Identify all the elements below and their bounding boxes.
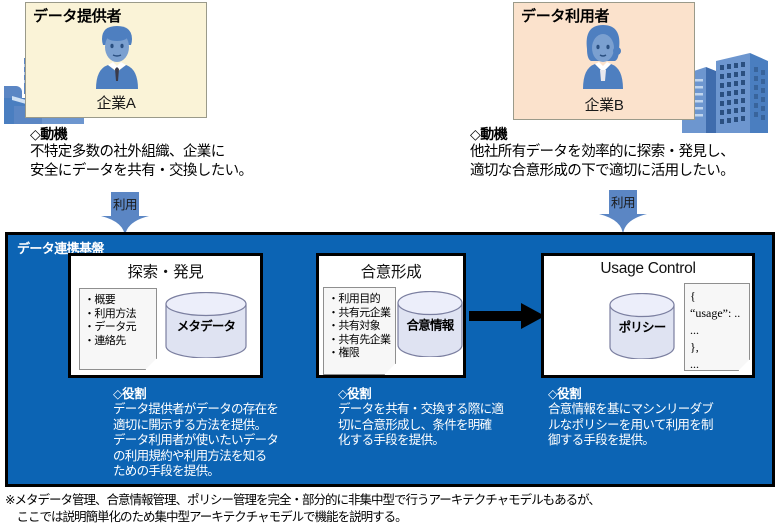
role-usage-control-text: 合意情報を基にマシンリーダブ ルなポリシーを用いて利用を制 御する手段を提供。 <box>548 402 778 449</box>
role-agreement-heading: ◇役割 <box>338 387 543 402</box>
policy-json-note: { “usage”: .. ... }, ... <box>684 283 750 371</box>
consumer-usage-arrow: 利用 <box>595 190 651 236</box>
businesswoman-avatar <box>572 23 634 89</box>
consumer-corp-label: 企業B <box>514 94 694 115</box>
panel-discovery[interactable]: 探索・発見 ・概要 ・利用方法 ・データ元 ・連絡先 メタデータ <box>68 253 263 378</box>
agreement-database-label: 合意情報 <box>395 315 465 334</box>
metadata-database-label: メタデータ <box>163 316 249 335</box>
panel-agreement[interactable]: 合意形成 ・利用目的 ・共有元企業 ・共有対象 ・共有先企業 ・権限 合意情報 <box>316 253 466 378</box>
role-discovery-text: データ提供者がデータの存在を 適切に開示する方法を提供。 データ利用者が使いたい… <box>113 402 338 480</box>
role-discovery: ◇役割 データ提供者がデータの存在を 適切に開示する方法を提供。 データ利用者が… <box>113 387 338 480</box>
provider-motivation-text: 不特定多数の社外組織、企業に 安全にデータを共有・交換したい。 <box>30 143 252 181</box>
businessman-avatar <box>86 23 148 89</box>
panel-discovery-title: 探索・発見 <box>71 260 260 282</box>
provider-motivation-heading: ◇動機 <box>30 126 252 143</box>
panel-usage-control[interactable]: Usage Control ポリシー { “usage”: .. ... }, … <box>541 253 755 378</box>
panel-agreement-title: 合意形成 <box>319 260 463 282</box>
data-consumer-card: データ利用者 企業B <box>513 2 695 120</box>
diagram-canvas: データ提供者 企業A ◇動機 不特定多数の社外組織、企業に 安全にデータを共有・… <box>0 0 780 530</box>
role-agreement-text: データを共有・交換する際に適 切に合意形成し、条件を明確 化する手段を提供。 <box>338 402 543 449</box>
consumer-arrow-label: 利用 <box>595 192 651 211</box>
policy-database-icon: ポリシー <box>607 293 677 359</box>
consumer-motivation-text: 他社所有データを効率的に探索・発見し、 適切な合意形成の下で適切に活用したい。 <box>470 143 734 181</box>
metadata-database-icon: メタデータ <box>163 292 249 358</box>
role-discovery-heading: ◇役割 <box>113 387 338 402</box>
policy-database-label: ポリシー <box>607 317 677 336</box>
panel-usage-control-title: Usage Control <box>544 260 752 278</box>
role-agreement: ◇役割 データを共有・交換する際に適 切に合意形成し、条件を明確 化する手段を提… <box>338 387 543 449</box>
consumer-motivation: ◇動機 他社所有データを効率的に探索・発見し、 適切な合意形成の下で適切に活用し… <box>470 126 734 181</box>
conversion-arrow-icon <box>469 303 545 329</box>
provider-corp-label: 企業A <box>26 92 206 113</box>
agreement-database-icon: 合意情報 <box>395 291 465 357</box>
provider-motivation: ◇動機 不特定多数の社外組織、企業に 安全にデータを共有・交換したい。 <box>30 126 252 181</box>
consumer-motivation-heading: ◇動機 <box>470 126 734 143</box>
footnote: ※メタデータ管理、合意情報管理、ポリシー管理を完全・部分的に非集中型で行うアーキ… <box>5 492 775 526</box>
role-usage-control-heading: ◇役割 <box>548 387 778 402</box>
agreement-attributes-note: ・利用目的 ・共有元企業 ・共有対象 ・共有先企業 ・権限 <box>323 287 396 375</box>
data-provider-card: データ提供者 企業A <box>25 2 207 118</box>
provider-arrow-label: 利用 <box>97 194 153 213</box>
data-collaboration-platform: データ連携基盤 探索・発見 ・概要 ・利用方法 ・データ元 ・連絡先 メタデータ… <box>5 232 775 487</box>
metadata-attributes-note: ・概要 ・利用方法 ・データ元 ・連絡先 <box>79 288 157 370</box>
role-usage-control: ◇役割 合意情報を基にマシンリーダブ ルなポリシーを用いて利用を制 御する手段を… <box>548 387 778 449</box>
